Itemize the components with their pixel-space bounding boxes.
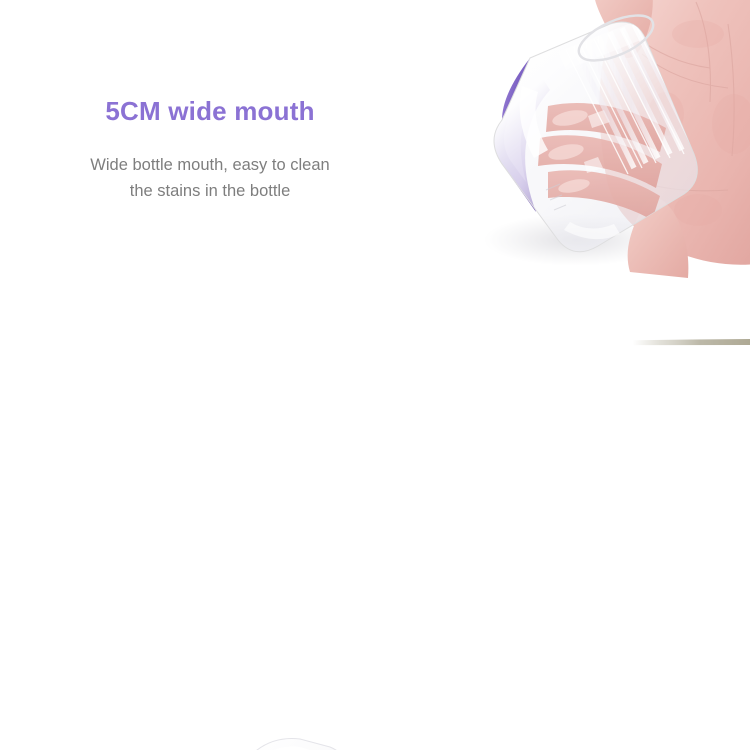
hand-inserted-into-wide-mouth-bottle-image [398,0,750,294]
bottle-cap-graphic [242,739,348,750]
wide-mouth-headline: 5CM wide mouth [30,95,390,128]
wide-mouth-subcopy: Wide bottle mouth, easy to clean the sta… [30,152,390,205]
wide-mouth-text-block: 5CM wide mouth Wide bottle mouth, easy t… [30,95,390,205]
wide-mouth-subcopy-line-2: the stains in the bottle [30,178,390,205]
feature-section-seal-leakage: Seal to prevent leakage The PP bottle bo… [0,343,750,750]
product-feature-page: 5CM wide mouth Wide bottle mouth, easy t… [0,0,750,750]
exploded-bottle-image [18,721,364,750]
feature-section-wide-mouth: 5CM wide mouth Wide bottle mouth, easy t… [0,0,750,342]
wide-mouth-subcopy-line-1: Wide bottle mouth, easy to clean [30,152,390,179]
